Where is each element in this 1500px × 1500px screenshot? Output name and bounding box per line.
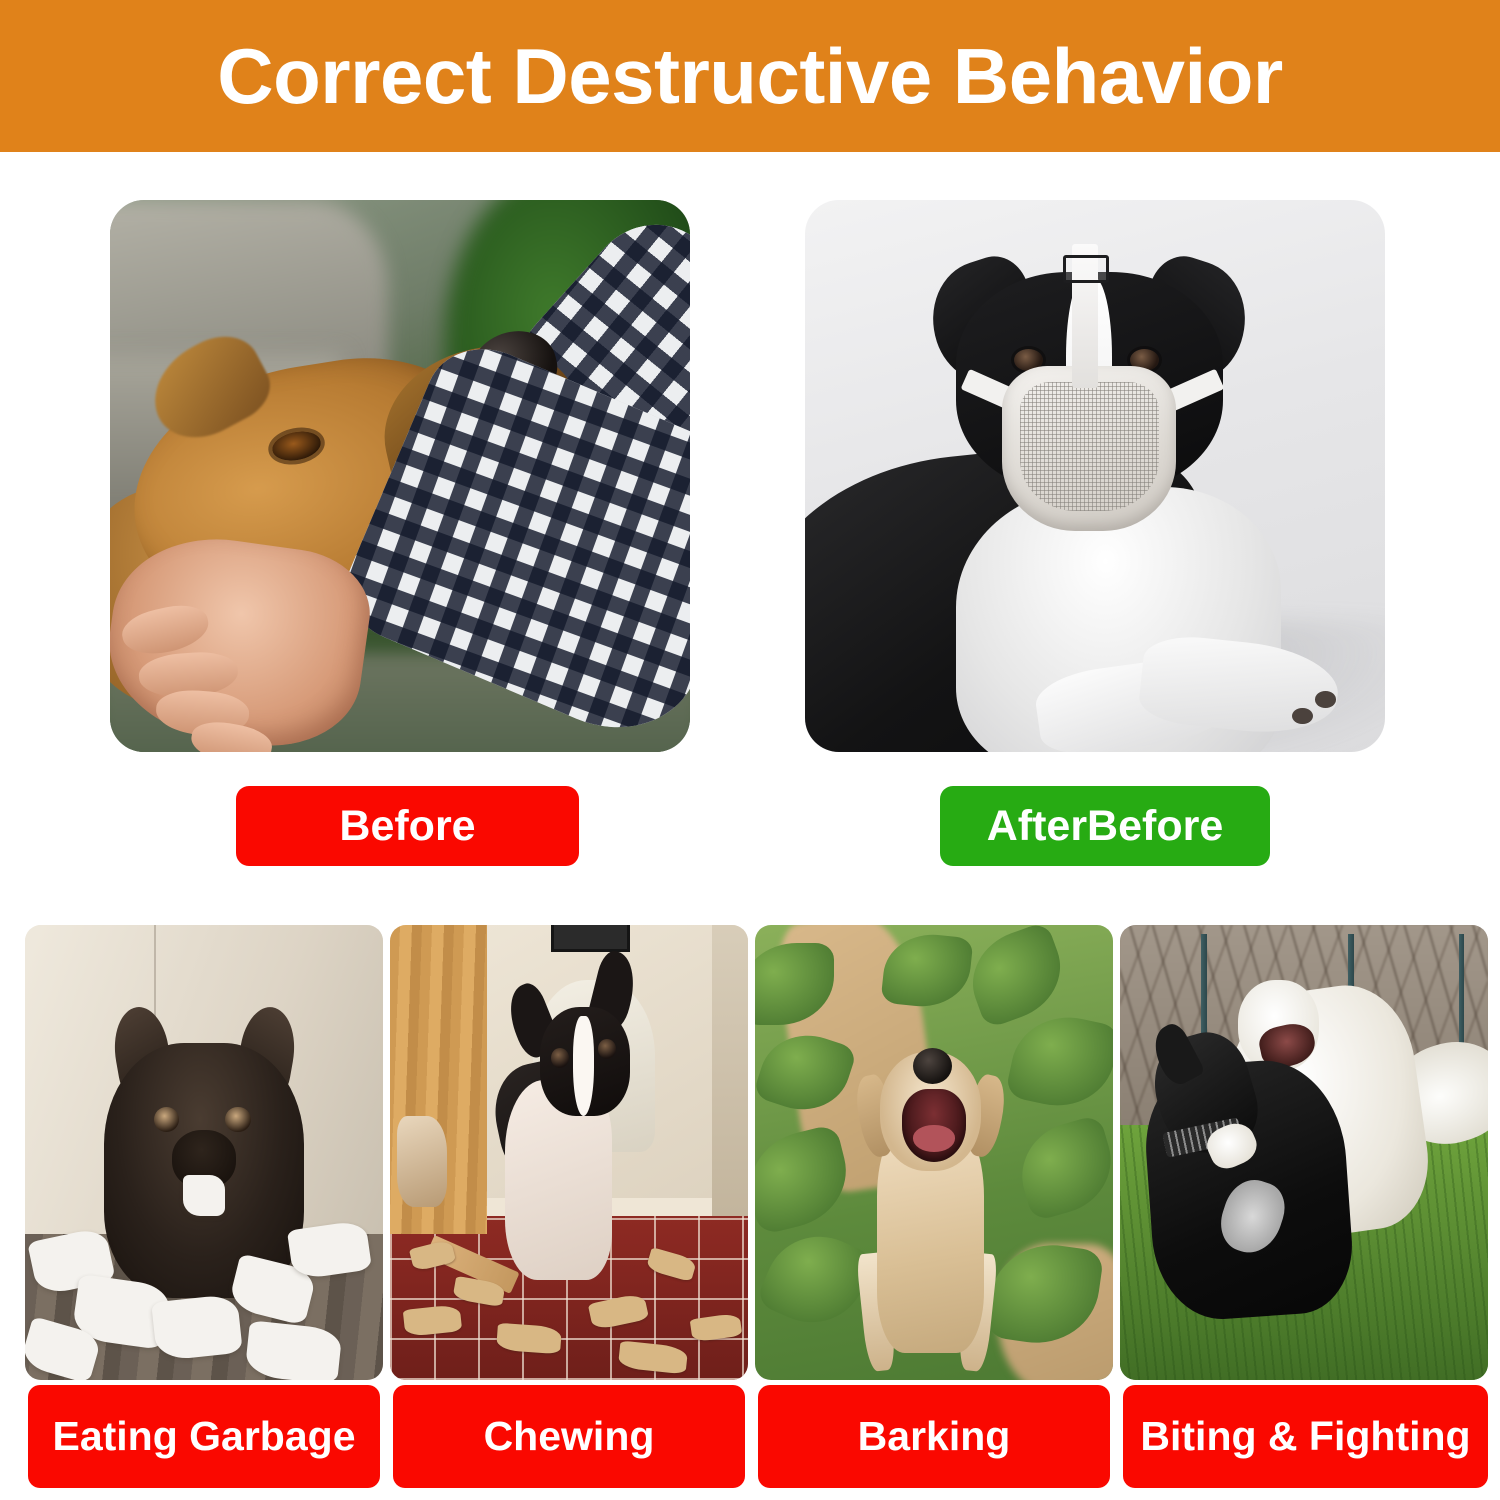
dog-wearing-mesh-muzzle-photo bbox=[805, 200, 1385, 752]
behavior-card-biting-fighting: Biting & Fighting bbox=[1120, 920, 1480, 1500]
behavior-card-chewing: Chewing bbox=[390, 920, 750, 1500]
behavior-grid: Eating Garbage bbox=[0, 920, 1500, 1500]
behavior-label-chewing: Chewing bbox=[393, 1385, 745, 1488]
aggressive-dog-biting-arm-photo bbox=[110, 200, 690, 752]
dog-chewed-door-photo bbox=[390, 925, 748, 1380]
dogs-fighting-grass-photo bbox=[1120, 925, 1488, 1380]
before-label: Before bbox=[236, 786, 579, 866]
behavior-card-eating-garbage: Eating Garbage bbox=[25, 920, 385, 1500]
dog-shredded-paper-photo bbox=[25, 925, 383, 1380]
behavior-label-barking: Barking bbox=[758, 1385, 1110, 1488]
behavior-card-barking: Barking bbox=[755, 920, 1115, 1500]
after-label: AfterBefore bbox=[940, 786, 1270, 866]
header-banner: Correct Destructive Behavior bbox=[0, 0, 1500, 152]
before-after-section: Before bbox=[0, 152, 1500, 872]
dog-barking-outdoors-photo bbox=[755, 925, 1113, 1380]
behavior-label-biting-fighting: Biting & Fighting bbox=[1123, 1385, 1488, 1488]
page-title: Correct Destructive Behavior bbox=[217, 37, 1282, 115]
behavior-label-eating-garbage: Eating Garbage bbox=[28, 1385, 380, 1488]
